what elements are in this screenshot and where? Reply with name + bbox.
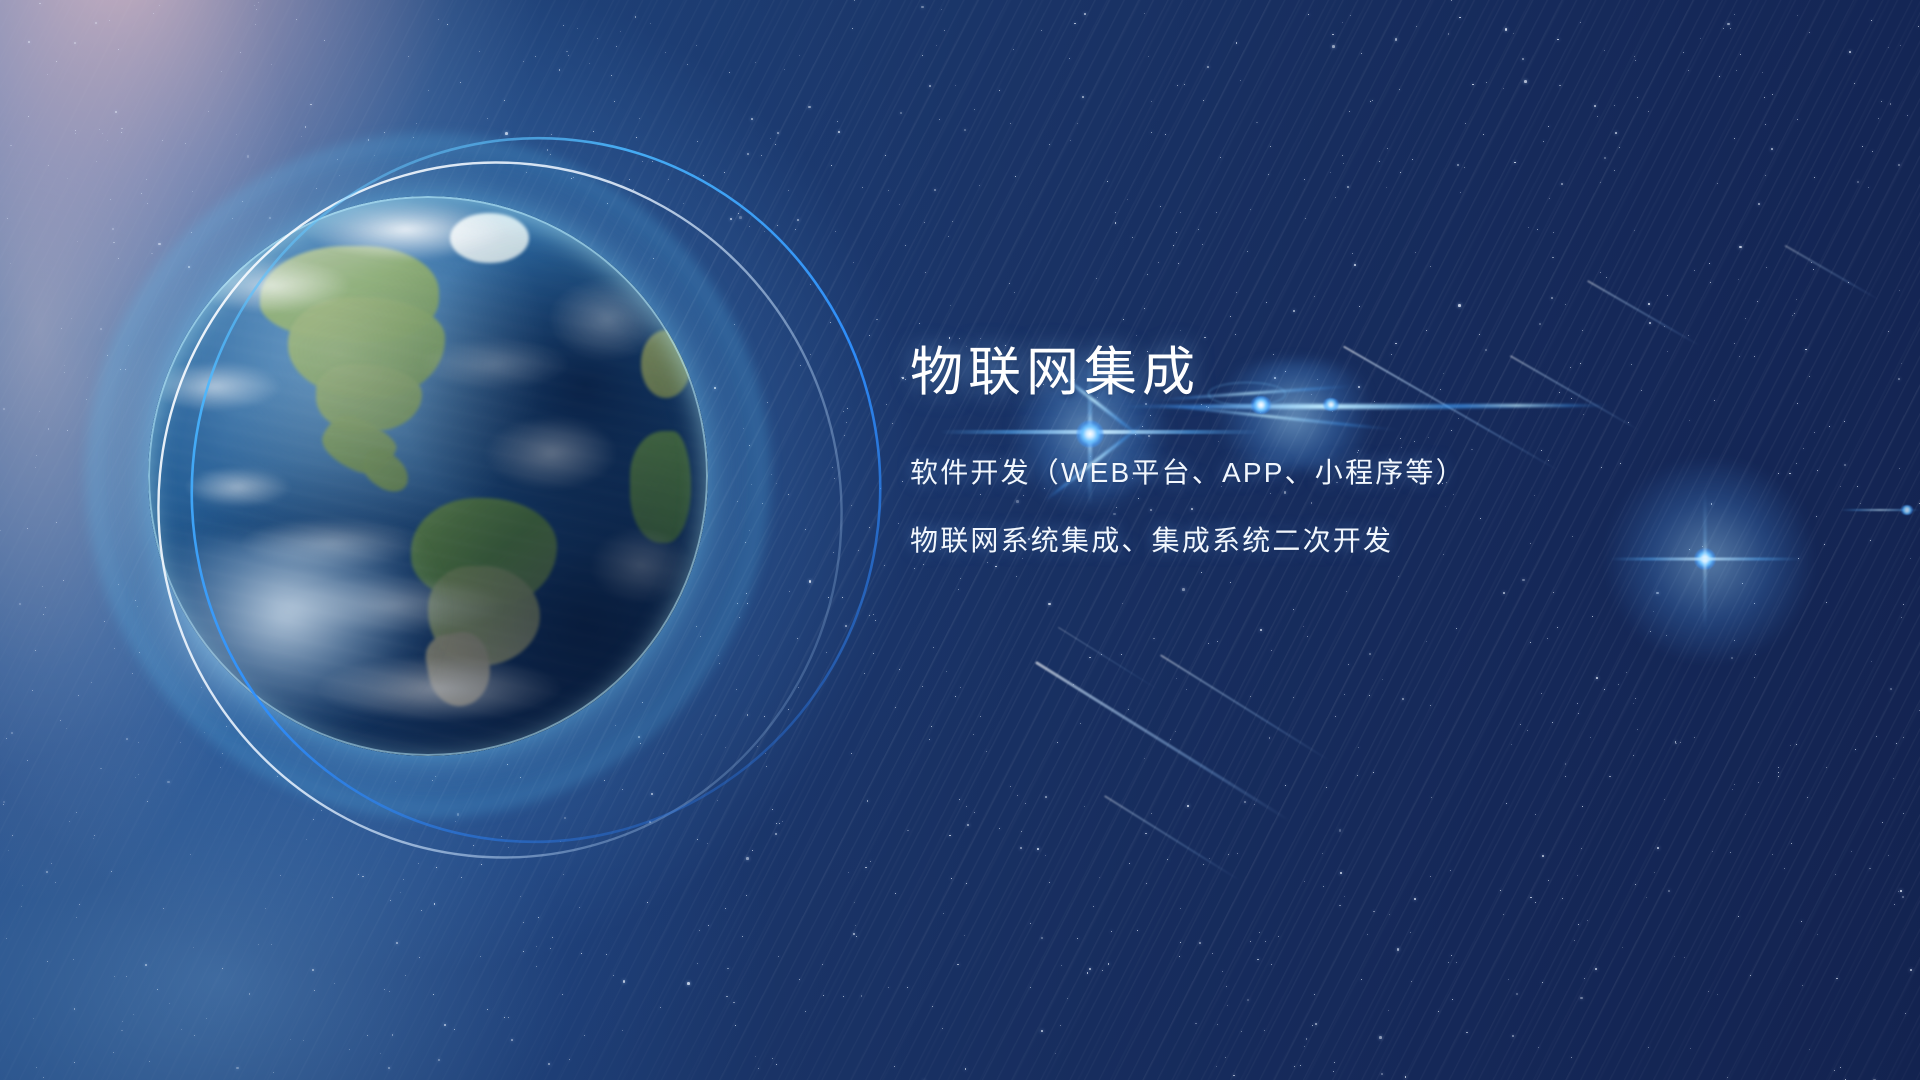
page-title: 物联网集成 bbox=[910, 346, 1810, 399]
banner-copy: 物联网集成 软件开发（WEB平台、APP、小程序等） 物联网系统集成、集成系统二… bbox=[910, 346, 1810, 559]
earth-globe bbox=[148, 196, 708, 756]
banner-subtitle-1: 软件开发（WEB平台、APP、小程序等） bbox=[910, 451, 1810, 491]
banner-subtitle-2: 物联网系统集成、集成系统二次开发 bbox=[910, 519, 1810, 559]
globe-sphere bbox=[148, 196, 708, 756]
hero-banner: 物联网集成 软件开发（WEB平台、APP、小程序等） 物联网系统集成、集成系统二… bbox=[0, 0, 1920, 1080]
globe-rim-light bbox=[148, 196, 708, 756]
